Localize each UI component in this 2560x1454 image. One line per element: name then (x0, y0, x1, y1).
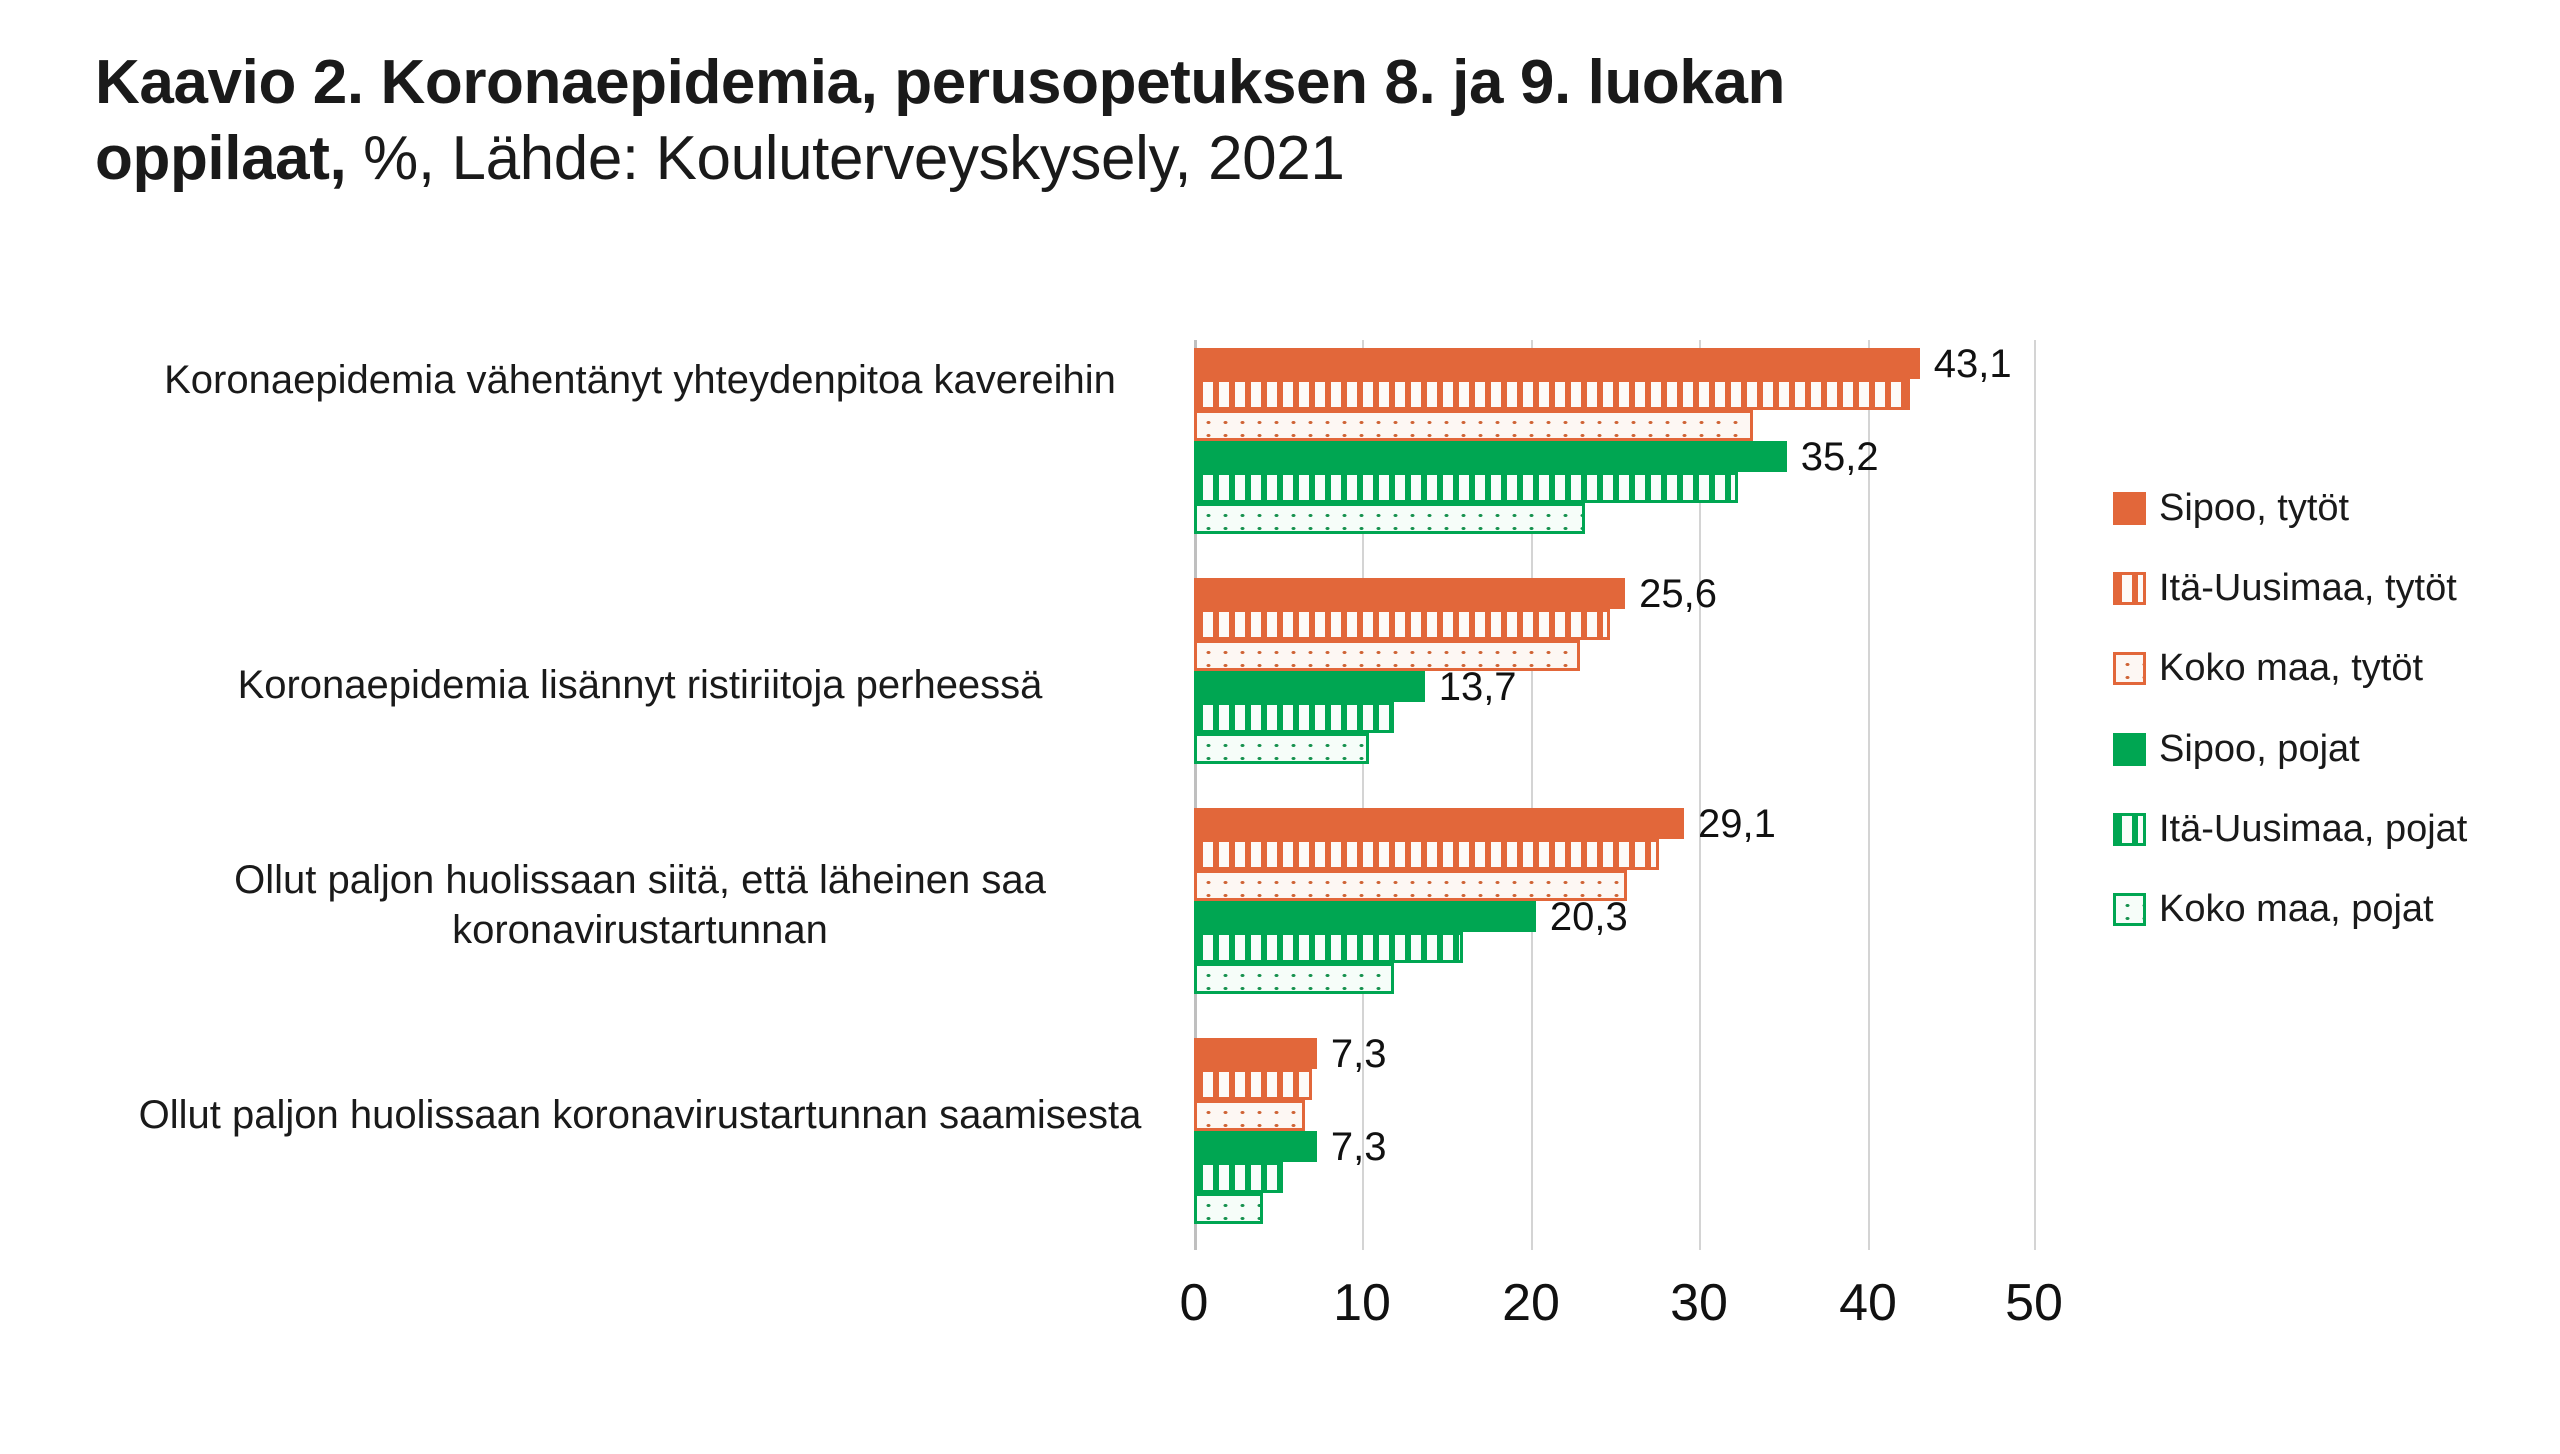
bar-ita-uusimaa-tytot-2[interactable] (1194, 839, 1659, 870)
bar-ita-uusimaa-pojat-1[interactable] (1194, 702, 1394, 733)
bar-sipoo-pojat-2[interactable] (1194, 901, 1536, 932)
category-label-3: Ollut paljon huolissaan koronavirustartu… (100, 1090, 1180, 1140)
data-label-sipoo-tytot-3: 7,3 (1331, 1034, 1387, 1074)
legend-label-2: Koko maa, tytöt (2159, 648, 2423, 688)
bar-group-3: 7,3 7,3 (1194, 1038, 2036, 1238)
legend-item-ita-uusimaa-tytot[interactable]: Itä-Uusimaa, tytöt (2113, 568, 2457, 608)
data-label-sipoo-tytot-2: 29,1 (1698, 804, 1776, 844)
bar-ita-uusimaa-tytot-0[interactable] (1194, 379, 1910, 410)
bar-ita-uusimaa-pojat-3[interactable] (1194, 1162, 1283, 1193)
legend-item-koko-maa-tytot[interactable]: Koko maa, tytöt (2113, 648, 2423, 688)
bar-koko-maa-pojat-0[interactable] (1194, 503, 1585, 534)
title-line-2: oppilaat, %, Lähde: Kouluterveyskysely, … (95, 121, 2395, 197)
bar-ita-uusimaa-tytot-1[interactable] (1194, 609, 1610, 640)
bar-sipoo-tytot-3[interactable] (1194, 1038, 1317, 1069)
x-tick-4: 40 (1839, 1272, 1897, 1334)
legend-item-sipoo-tytot[interactable]: Sipoo, tytöt (2113, 488, 2349, 528)
striped-orange-swatch-icon (2113, 572, 2146, 605)
bar-group-1: 25,6 13,7 (1194, 578, 2036, 778)
x-tick-2: 20 (1502, 1272, 1560, 1334)
bar-group-2: 29,1 20,3 (1194, 808, 2036, 1008)
x-tick-3: 30 (1670, 1272, 1728, 1334)
data-label-sipoo-tytot-1: 25,6 (1639, 574, 1717, 614)
legend-item-ita-uusimaa-pojat[interactable]: Itä-Uusimaa, pojat (2113, 809, 2467, 849)
data-label-sipoo-pojat-1: 13,7 (1439, 667, 1517, 707)
bar-ita-uusimaa-pojat-0[interactable] (1194, 472, 1738, 503)
legend-label-3: Sipoo, pojat (2159, 729, 2360, 769)
dotted-orange-swatch-icon (2113, 652, 2146, 685)
legend-item-sipoo-pojat[interactable]: Sipoo, pojat (2113, 729, 2360, 769)
x-tick-1: 10 (1333, 1272, 1391, 1334)
solid-orange-swatch-icon (2113, 492, 2146, 525)
bar-ita-uusimaa-tytot-3[interactable] (1194, 1069, 1312, 1100)
dotted-green-swatch-icon (2113, 893, 2146, 926)
bar-koko-maa-tytot-3[interactable] (1194, 1100, 1305, 1131)
bar-sipoo-tytot-2[interactable] (1194, 808, 1684, 839)
chart-title: Kaavio 2. Koronaepidemia, perusopetuksen… (95, 45, 2395, 197)
bar-koko-maa-tytot-1[interactable] (1194, 640, 1580, 671)
x-axis-tick-labels: 0 10 20 30 40 50 (1194, 1272, 2036, 1342)
bar-koko-maa-tytot-0[interactable] (1194, 410, 1753, 441)
bar-koko-maa-pojat-2[interactable] (1194, 963, 1394, 994)
title-line-2-bold: oppilaat, (95, 124, 346, 193)
striped-green-swatch-icon (2113, 813, 2146, 846)
legend-label-5: Koko maa, pojat (2159, 889, 2434, 929)
bar-ita-uusimaa-pojat-2[interactable] (1194, 932, 1463, 963)
bar-sipoo-pojat-1[interactable] (1194, 671, 1425, 702)
bar-koko-maa-pojat-3[interactable] (1194, 1193, 1263, 1224)
bar-sipoo-pojat-3[interactable] (1194, 1131, 1317, 1162)
data-label-sipoo-pojat-0: 35,2 (1801, 437, 1879, 477)
x-tick-5: 50 (2005, 1272, 2063, 1334)
title-line-2-regular: %, Lähde: Kouluterveyskysely, 2021 (346, 124, 1344, 193)
bar-koko-maa-pojat-1[interactable] (1194, 733, 1369, 764)
legend-label-1: Itä-Uusimaa, tytöt (2159, 568, 2457, 608)
plot-area: 43,1 35,2 25,6 13,7 29,1 20,3 (1194, 340, 2036, 1250)
legend-label-4: Itä-Uusimaa, pojat (2159, 809, 2467, 849)
data-label-sipoo-tytot-0: 43,1 (1934, 344, 2012, 384)
legend-label-0: Sipoo, tytöt (2159, 488, 2349, 528)
bar-sipoo-tytot-1[interactable] (1194, 578, 1625, 609)
bar-sipoo-tytot-0[interactable] (1194, 348, 1920, 379)
solid-green-swatch-icon (2113, 733, 2146, 766)
category-label-0: Koronaepidemia vähentänyt yhteydenpitoa … (100, 355, 1180, 405)
chart-page: Kaavio 2. Koronaepidemia, perusopetuksen… (0, 0, 2560, 1454)
title-line-1: Kaavio 2. Koronaepidemia, perusopetuksen… (95, 45, 2395, 121)
category-label-2: Ollut paljon huolissaan siitä, että lähe… (100, 855, 1180, 955)
legend-item-koko-maa-pojat[interactable]: Koko maa, pojat (2113, 889, 2434, 929)
data-label-sipoo-pojat-2: 20,3 (1550, 897, 1628, 937)
bar-group-0: 43,1 35,2 (1194, 348, 2036, 548)
bar-sipoo-pojat-0[interactable] (1194, 441, 1787, 472)
category-label-1: Koronaepidemia lisännyt ristiriitoja per… (100, 660, 1180, 710)
x-tick-0: 0 (1180, 1272, 1209, 1334)
data-label-sipoo-pojat-3: 7,3 (1331, 1127, 1387, 1167)
